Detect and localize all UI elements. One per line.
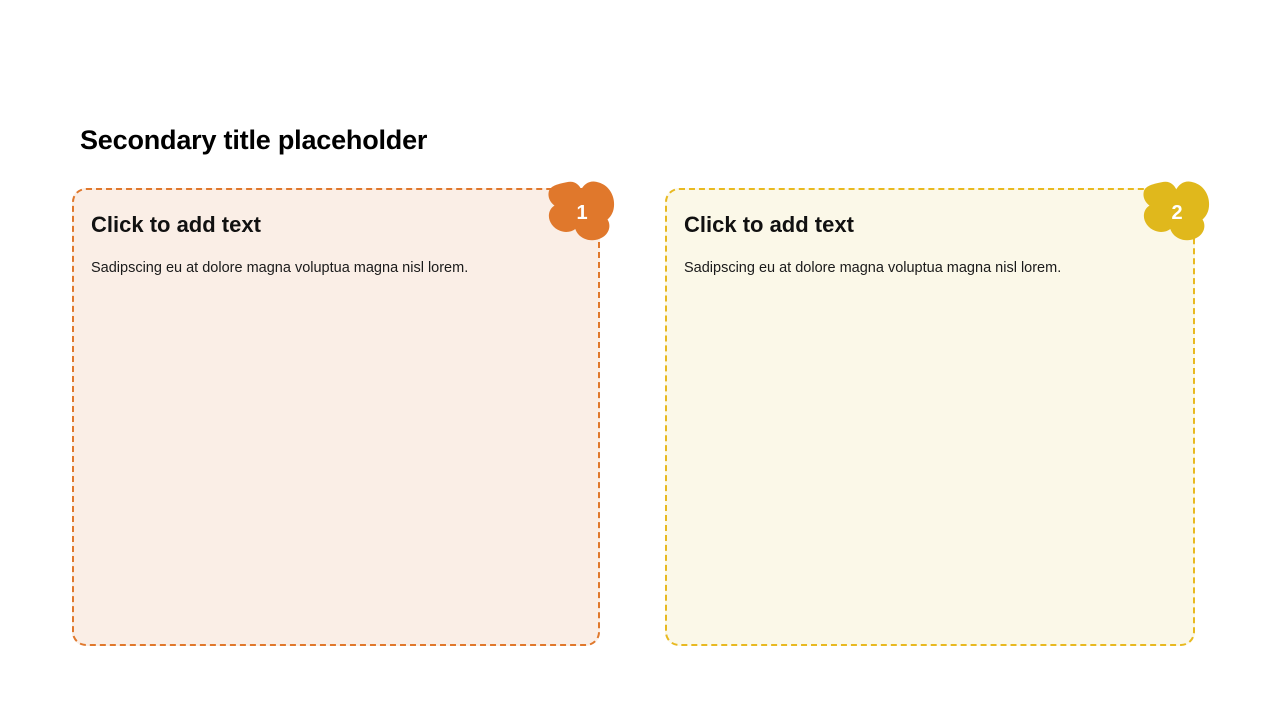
page-title: Secondary title placeholder	[80, 125, 427, 156]
blob-badge-1: 1	[546, 181, 616, 241]
content-card-2[interactable]: Click to add text Sadipscing eu at dolor…	[665, 188, 1195, 646]
content-card-1[interactable]: Click to add text Sadipscing eu at dolor…	[72, 188, 600, 646]
blob-badge-icon	[1141, 181, 1211, 241]
blob-badge-2: 2	[1141, 181, 1211, 241]
card-1-heading[interactable]: Click to add text	[91, 212, 261, 238]
card-2-heading[interactable]: Click to add text	[684, 212, 854, 238]
card-2-body-text[interactable]: Sadipscing eu at dolore magna voluptua m…	[684, 258, 1169, 279]
blob-badge-icon	[546, 181, 616, 241]
slide-canvas: Secondary title placeholder Click to add…	[0, 0, 1280, 720]
card-1-body-text[interactable]: Sadipscing eu at dolore magna voluptua m…	[91, 258, 574, 279]
